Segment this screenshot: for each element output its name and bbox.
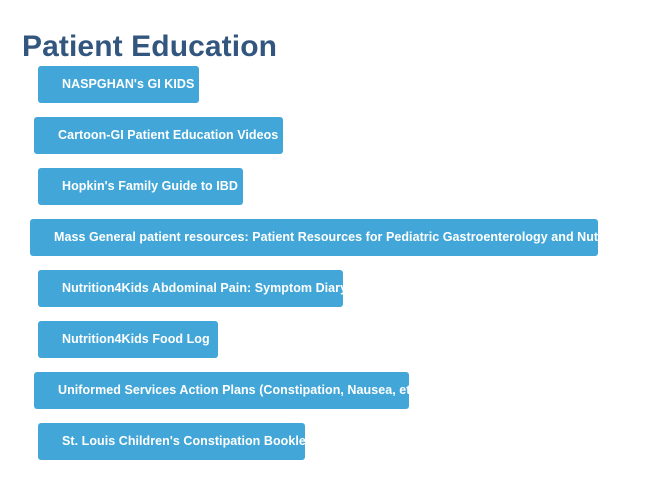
link-button-nutrition4kids-symptom-diary[interactable]: Nutrition4Kids Abdominal Pain: Symptom D… xyxy=(38,270,343,307)
list-item: Hopkin's Family Guide to IBD xyxy=(0,168,661,219)
list-item: Nutrition4Kids Abdominal Pain: Symptom D… xyxy=(0,270,661,321)
list-item: St. Louis Children's Constipation Bookle… xyxy=(0,423,661,474)
link-button-cartoon-gi-videos[interactable]: Cartoon-GI Patient Education Videos xyxy=(34,117,283,154)
link-button-hopkins-family-guide-ibd[interactable]: Hopkin's Family Guide to IBD xyxy=(38,168,243,205)
link-button-st-louis-constipation-booklet[interactable]: St. Louis Children's Constipation Bookle… xyxy=(38,423,305,460)
link-button-mass-general-patient-resources[interactable]: Mass General patient resources: Patient … xyxy=(30,219,598,256)
link-button-naspghan-gi-kids[interactable]: NASPGHAN's GI KIDS xyxy=(38,66,199,103)
list-item: Cartoon-GI Patient Education Videos xyxy=(0,117,661,168)
list-item: Uniformed Services Action Plans (Constip… xyxy=(0,372,661,423)
link-button-nutrition4kids-food-log[interactable]: Nutrition4Kids Food Log xyxy=(38,321,218,358)
link-button-uniformed-services-action-plans[interactable]: Uniformed Services Action Plans (Constip… xyxy=(34,372,409,409)
page-title: Patient Education xyxy=(22,27,277,67)
patient-education-page: Patient Education NASPGHAN's GI KIDS Car… xyxy=(0,0,661,489)
list-item: Nutrition4Kids Food Log xyxy=(0,321,661,372)
list-item: NASPGHAN's GI KIDS xyxy=(0,66,661,117)
patient-education-link-list: NASPGHAN's GI KIDS Cartoon-GI Patient Ed… xyxy=(0,66,661,474)
list-item: Mass General patient resources: Patient … xyxy=(0,219,661,270)
